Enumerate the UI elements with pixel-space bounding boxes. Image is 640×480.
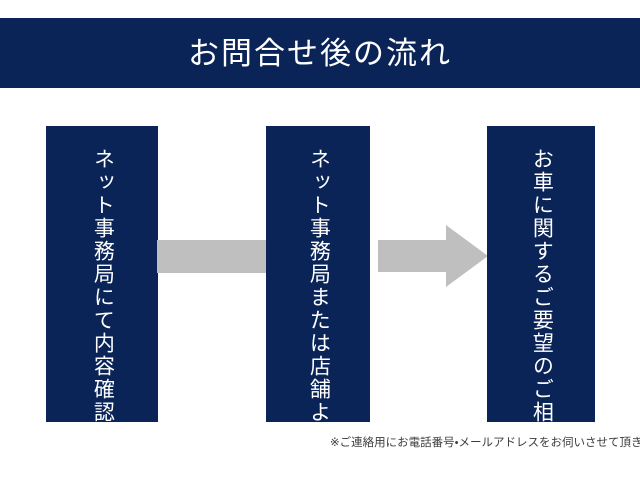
flow-step-box-3: お車に関するご要望のご相談（※） [487,126,595,422]
flow-step-label-1: ネット事務局にて内容確認 [90,148,115,424]
flow-step-label-2: ネット事務局または店舗よりご回答 [306,148,331,480]
flow-step-box-1: ネット事務局にて内容確認 [46,126,158,422]
slide-canvas: お問合せ後の流れ ネット事務局にて内容確認 ネット事務局または店舗よりご回答 お… [0,0,640,480]
arrow-right-icon [378,225,488,287]
connector-bar-icon [157,240,267,273]
title-banner: お問合せ後の流れ [0,18,640,88]
page-title: お問合せ後の流れ [188,38,452,69]
flow-step-box-2: ネット事務局または店舗よりご回答 [266,126,370,422]
footnote-text: ※ご連絡用にお電話番号・メールアドレスをお伺いさせて頂きます [330,436,630,451]
flow-step-label-3: お車に関するご要望のご相談（※） [529,148,554,480]
